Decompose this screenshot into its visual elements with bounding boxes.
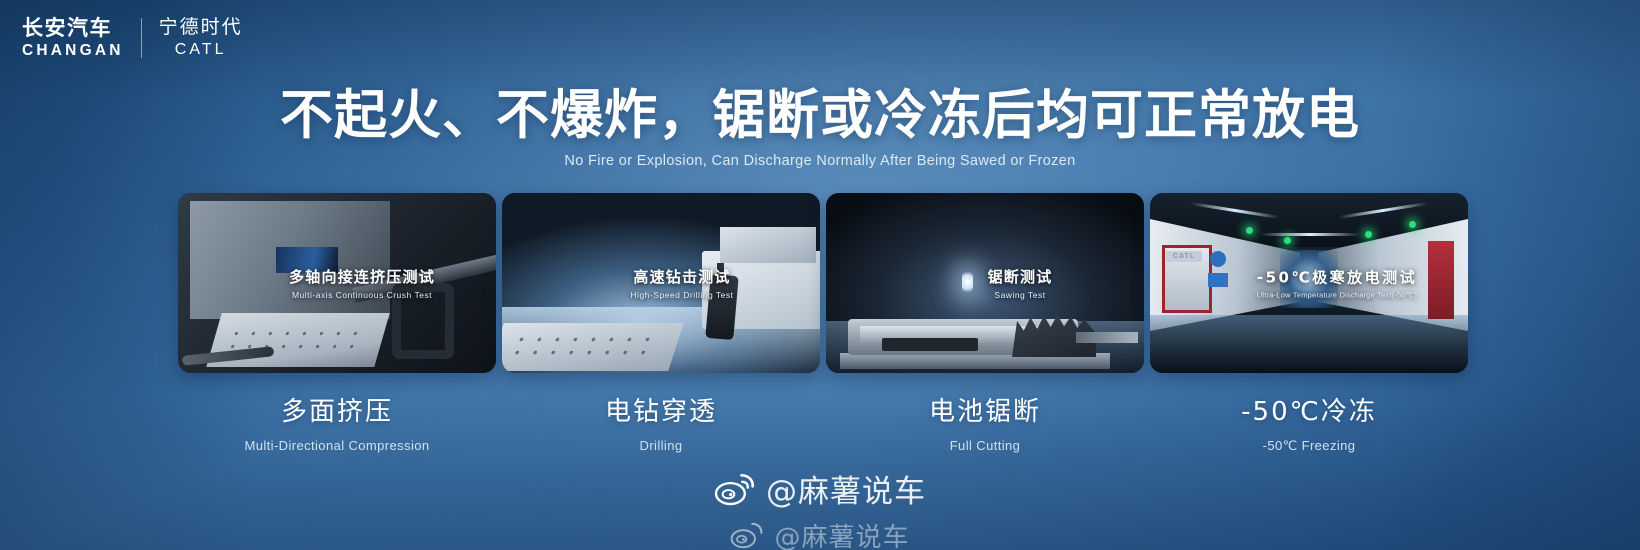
caption-full-cutting: 电池锯断 Full Cutting xyxy=(826,398,1144,454)
headline-block: 不起火、不爆炸，锯断或冷冻后均可正常放电 No Fire or Explosio… xyxy=(0,88,1640,169)
headline-en: No Fire or Explosion, Can Discharge Norm… xyxy=(0,153,1640,169)
brand-logo-bar: 长安汽车 CHANGAN 宁德时代 CATL xyxy=(22,18,243,59)
weibo-watermark: @麻薯说车 xyxy=(0,466,1640,511)
caption-3-en: Full Cutting xyxy=(826,438,1144,453)
weibo-watermark-secondary: @麻薯说车 xyxy=(0,520,1640,550)
card-1-illustration xyxy=(178,193,496,373)
changan-logo-cn: 长安汽车 xyxy=(22,18,112,39)
weibo-icon xyxy=(714,472,756,506)
caption-4-cn: -50℃冷冻 xyxy=(1150,398,1468,428)
caption-2-cn: 电钻穿透 xyxy=(502,398,820,428)
headline-cn: 不起火、不爆炸，锯断或冷冻后均可正常放电 xyxy=(0,88,1640,144)
test-card-ultra-low-temp-discharge[interactable]: CATL -50℃极寒放电测试 Ultra-Low Temperature Di… xyxy=(1150,193,1468,373)
catl-logo-cn: 宁德时代 xyxy=(159,18,243,37)
caption-4-en: -50℃ Freezing xyxy=(1150,438,1468,454)
caption-row: 多面挤压 Multi-Directional Compression 电钻穿透 … xyxy=(178,398,1468,454)
caption-1-en: Multi-Directional Compression xyxy=(178,438,496,453)
weibo-handle-secondary: @麻薯说车 xyxy=(774,520,909,550)
caption-1-cn: 多面挤压 xyxy=(178,398,496,428)
catl-logo: 宁德时代 CATL xyxy=(159,18,243,58)
slide-root: 长安汽车 CHANGAN 宁德时代 CATL 不起火、不爆炸，锯断或冷冻后均可正… xyxy=(0,0,1640,550)
caption-drilling: 电钻穿透 Drilling xyxy=(502,398,820,454)
test-card-sawing[interactable]: 锯断测试 Sawing Test xyxy=(826,193,1144,373)
card-2-illustration xyxy=(502,193,820,373)
card-4-catl-badge: CATL xyxy=(1166,251,1202,262)
test-card-high-speed-drilling[interactable]: 高速钻击测试 High-Speed Drilling Test xyxy=(502,193,820,373)
test-card-row: 多轴向接连挤压测试 Multi-axis Continuous Crush Te… xyxy=(178,193,1468,373)
changan-logo: 长安汽车 CHANGAN xyxy=(22,18,124,59)
caption-3-cn: 电池锯断 xyxy=(826,398,1144,428)
changan-logo-en: CHANGAN xyxy=(22,43,124,59)
catl-logo-en: CATL xyxy=(175,42,227,58)
card-3-illustration xyxy=(826,193,1144,373)
caption-2-en: Drilling xyxy=(502,438,820,453)
weibo-icon-secondary xyxy=(730,521,764,549)
caption-freezing: -50℃冷冻 -50℃ Freezing xyxy=(1150,398,1468,454)
caption-multi-directional-compression: 多面挤压 Multi-Directional Compression xyxy=(178,398,496,454)
weibo-handle: @麻薯说车 xyxy=(766,466,926,511)
test-card-multi-axis-crush[interactable]: 多轴向接连挤压测试 Multi-axis Continuous Crush Te… xyxy=(178,193,496,373)
logo-divider xyxy=(141,18,142,58)
card-4-illustration: CATL xyxy=(1150,193,1468,373)
